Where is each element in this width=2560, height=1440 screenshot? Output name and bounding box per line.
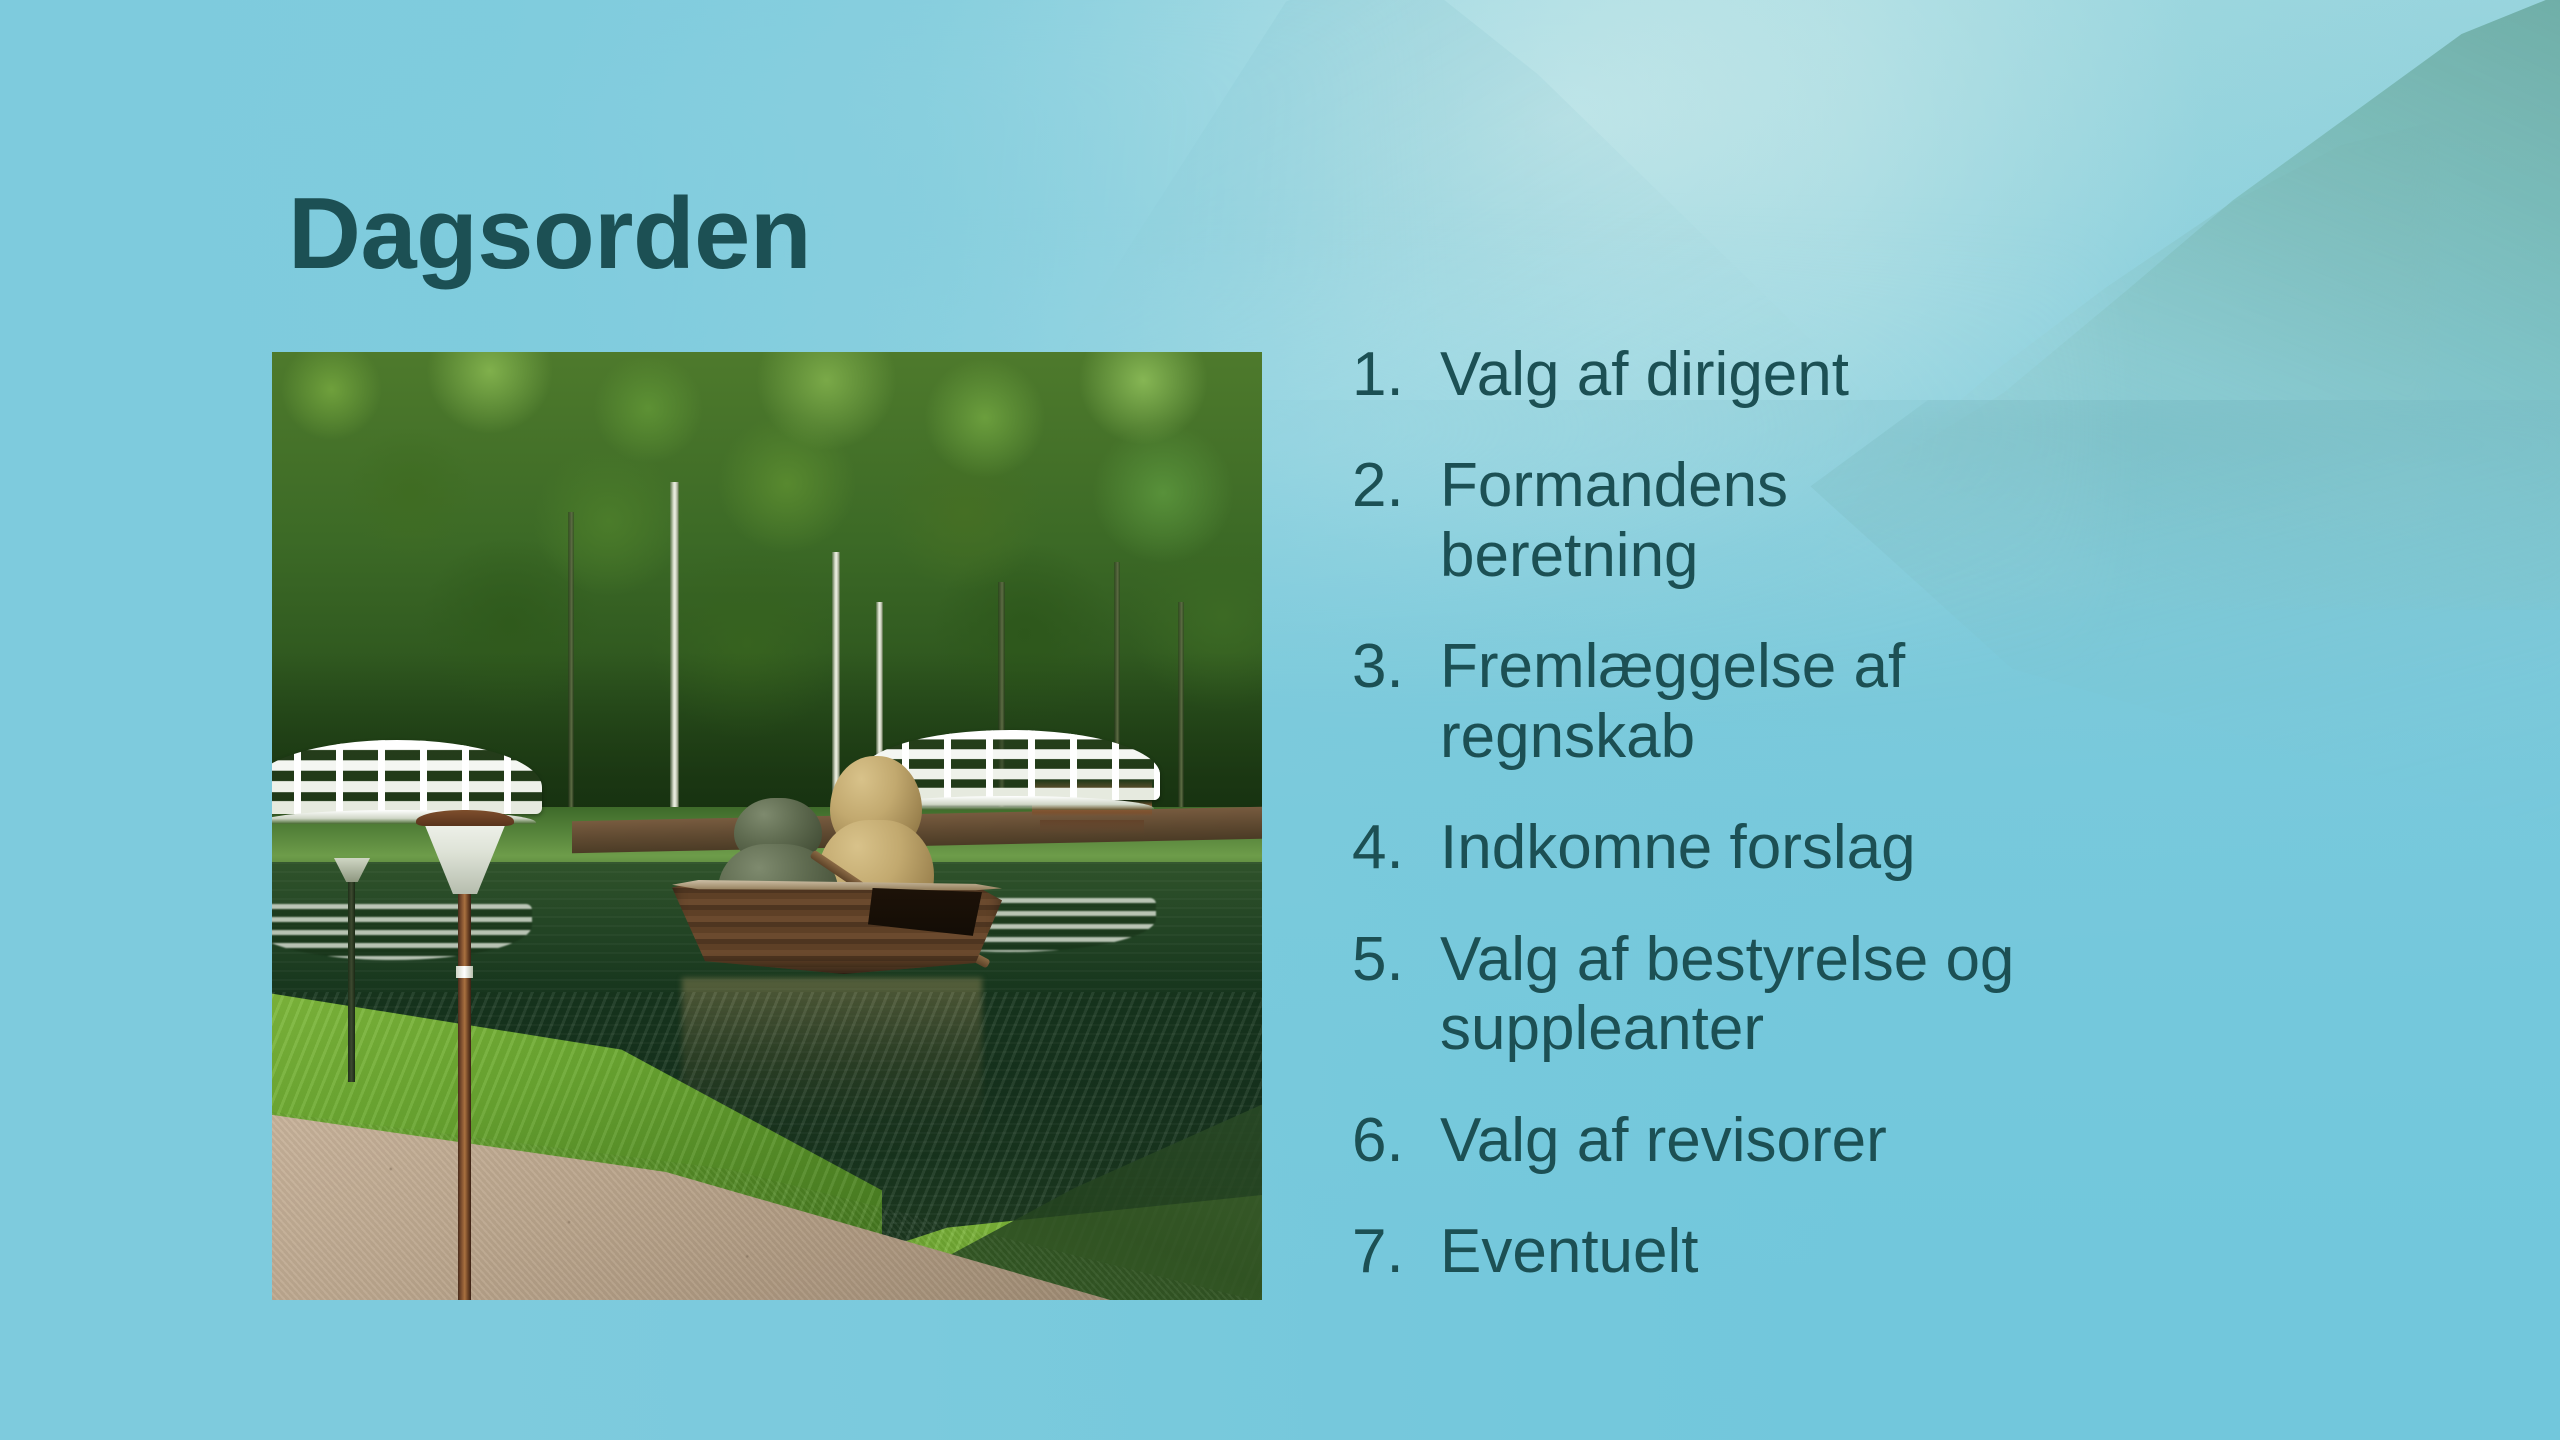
- list-item-label: Formandens beretning: [1440, 451, 2060, 590]
- photo-lamp-post-distant: [348, 872, 355, 1082]
- list-item-number: 4.: [1352, 813, 1440, 882]
- list-item: 3. Fremlæggelse af regnskab: [1352, 632, 2402, 771]
- list-item: 2. Formandens beretning: [1352, 451, 2402, 590]
- list-item-number: 3.: [1352, 632, 1440, 701]
- list-item-label: Fremlæggelse af regnskab: [1440, 632, 2060, 771]
- photo-lamp-post-band: [456, 966, 473, 978]
- list-item: 5. Valg af bestyrelse og suppleanter: [1352, 925, 2402, 1064]
- list-item-label: Valg af bestyrelse og suppleanter: [1440, 925, 2060, 1064]
- list-item-label: Valg af dirigent: [1440, 340, 2060, 409]
- list-item-number: 6.: [1352, 1106, 1440, 1175]
- photo-tree-trunk: [568, 512, 574, 842]
- list-item-label: Eventuelt: [1440, 1217, 2060, 1286]
- photo-lamp-cap: [416, 810, 514, 826]
- page-title: Dagsorden: [288, 178, 811, 291]
- list-item-number: 1.: [1352, 340, 1440, 409]
- list-item-label: Indkomne forslag: [1440, 813, 2060, 882]
- list-item-number: 2.: [1352, 451, 1440, 520]
- list-item-number: 5.: [1352, 925, 1440, 994]
- list-item: 1. Valg af dirigent: [1352, 340, 2402, 409]
- presentation-slide: Dagsorden: [0, 0, 2560, 1440]
- photo-lamp-post: [458, 892, 471, 1300]
- list-item-label: Valg af revisorer: [1440, 1106, 2060, 1175]
- list-item-number: 7.: [1352, 1217, 1440, 1286]
- list-item: 7. Eventuelt: [1352, 1217, 2402, 1286]
- agenda-list: 1. Valg af dirigent 2. Formandens beretn…: [1352, 340, 2402, 1328]
- list-item: 6. Valg af revisorer: [1352, 1106, 2402, 1175]
- content-photo: [272, 352, 1262, 1300]
- photo-inner: [272, 352, 1262, 1300]
- list-item: 4. Indkomne forslag: [1352, 813, 2402, 882]
